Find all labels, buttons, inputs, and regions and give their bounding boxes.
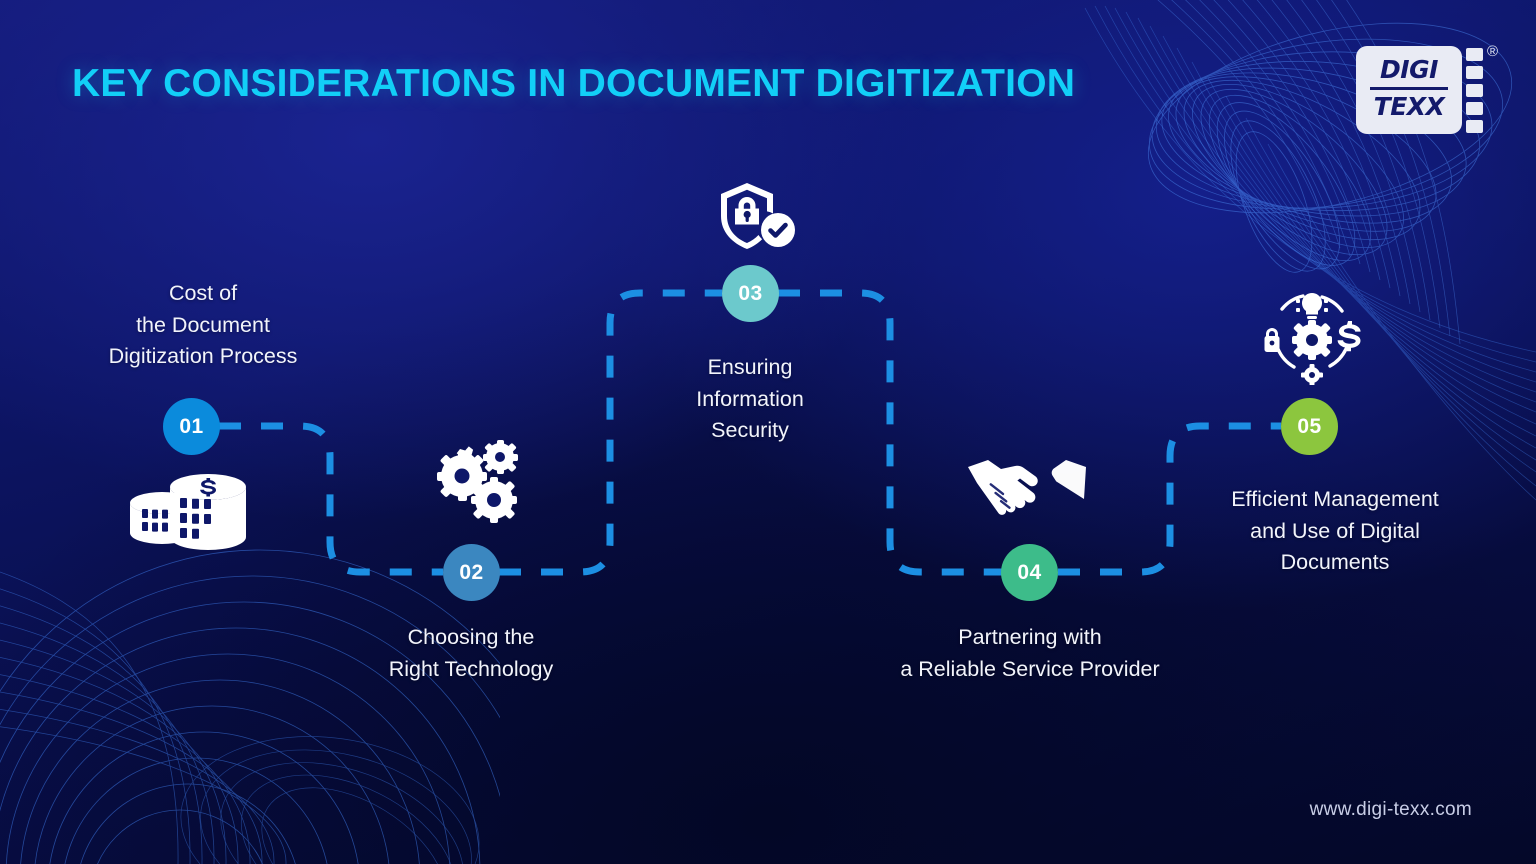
digital-asset-management-icon — [1258, 287, 1364, 385]
shield-lock-check-icon — [713, 181, 799, 257]
logo-divider-rule — [1370, 87, 1448, 90]
step-number-badge-05[interactable]: 05 — [1281, 398, 1338, 455]
step-number-03: 03 — [738, 282, 762, 306]
step-label-02: Choosing the Right Technology — [311, 622, 631, 685]
step-number-badge-03[interactable]: 03 — [722, 265, 779, 322]
step-number-01: 01 — [179, 415, 203, 439]
step-number-05: 05 — [1297, 415, 1321, 439]
step-number-badge-04[interactable]: 04 — [1001, 544, 1058, 601]
registered-trademark-icon: ® — [1487, 44, 1498, 59]
footer-website-url[interactable]: www.digi-texx.com — [1310, 799, 1472, 821]
handshake-icon — [966, 455, 1088, 517]
coins-icon — [126, 470, 252, 556]
infographic-canvas: KEY CONSIDERATIONS IN DOCUMENT DIGITIZAT… — [0, 0, 1536, 864]
step-number-badge-02[interactable]: 02 — [443, 544, 500, 601]
logo-film-squares — [1466, 48, 1486, 134]
step-number-04: 04 — [1017, 561, 1041, 585]
step-label-05: Efficient Management and Use of Digital … — [1155, 484, 1515, 579]
step-label-03: Ensuring Information Security — [620, 352, 880, 447]
page-title: KEY CONSIDERATIONS IN DOCUMENT DIGITIZAT… — [72, 62, 1075, 106]
digitexx-logo: DIGI TEXX ® — [1356, 38, 1504, 142]
step-number-badge-01[interactable]: 01 — [163, 398, 220, 455]
logo-text-digi: DIGI — [1356, 55, 1462, 84]
gears-icon — [422, 434, 526, 528]
step-label-04: Partnering with a Reliable Service Provi… — [840, 622, 1220, 685]
step-label-01: Cost of the Document Digitization Proces… — [33, 278, 373, 373]
step-number-02: 02 — [459, 561, 483, 585]
logo-text-texx: TEXX — [1356, 92, 1462, 121]
